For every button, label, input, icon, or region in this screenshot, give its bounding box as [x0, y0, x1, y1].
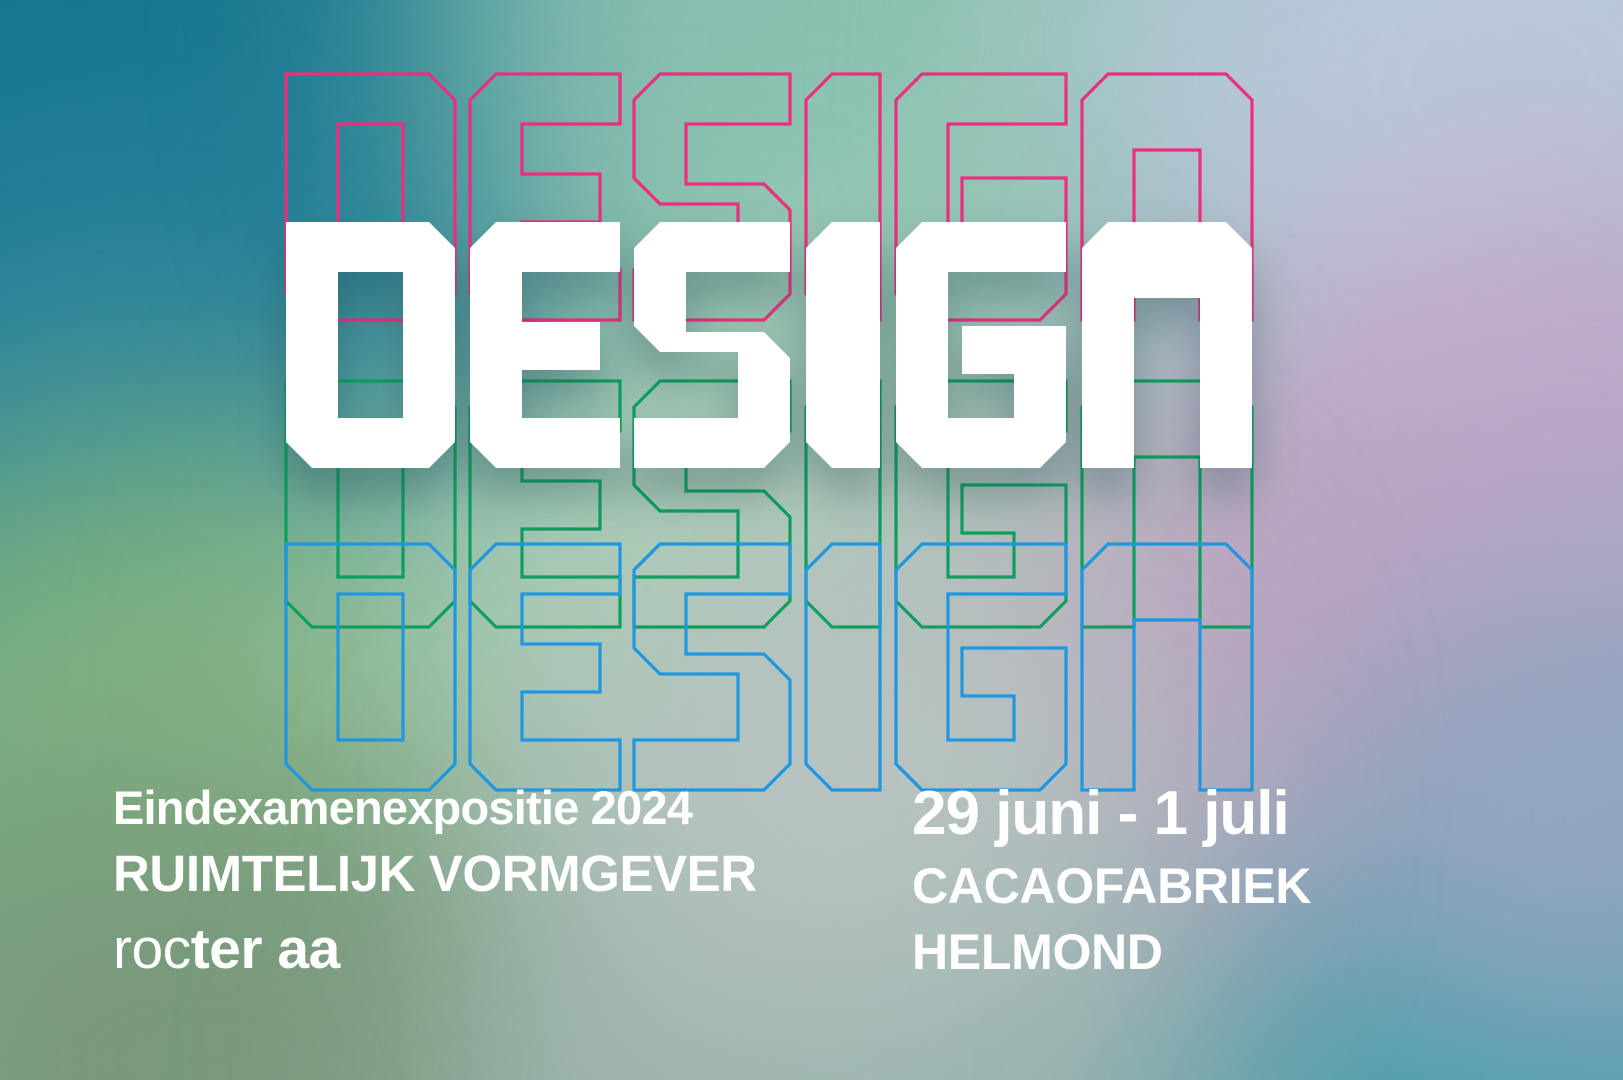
course-title: RUIMTELIJK VORMGEVER [113, 841, 757, 907]
footer-info: Eindexamenexpositie 2024 RUIMTELIJK VORM… [0, 778, 1623, 1080]
poster-canvas: Eindexamenexpositie 2024 RUIMTELIJK VORM… [0, 0, 1623, 1080]
footer-left-column: Eindexamenexpositie 2024 RUIMTELIJK VORM… [113, 778, 757, 985]
footer-right-column: 29 juni - 1 juli CACAOFABRIEK HELMOND [912, 778, 1311, 984]
logo-word-ter-aa: ter aa [191, 917, 340, 981]
roc-ter-aa-logo: rocter aa [113, 913, 757, 985]
event-venue: CACAOFABRIEK [912, 854, 1311, 918]
event-city: HELMOND [912, 920, 1311, 984]
logo-word-roc: roc [113, 917, 191, 981]
exhibition-title: Eindexamenexpositie 2024 [113, 778, 757, 838]
event-dates: 29 juni - 1 juli [912, 778, 1311, 850]
